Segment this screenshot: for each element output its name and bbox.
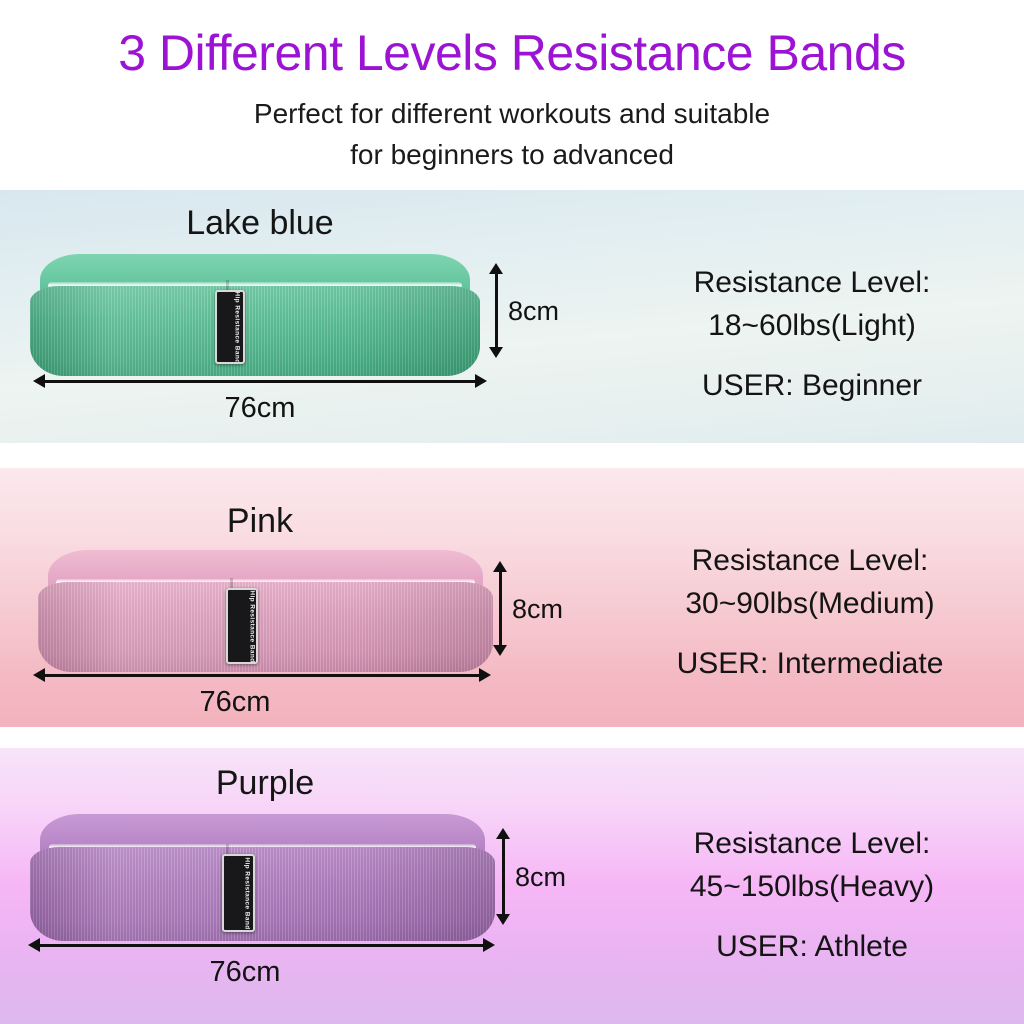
resistance-value: 18~60lbs(Light) [600,305,1024,348]
color-name-label: Purple [0,764,530,803]
band-section-purple: Purple Heavy Hip Resistance Band 8cm 76c [0,748,1024,1024]
infographic-page: 3 Different Levels Resistance Bands Perf… [0,0,1024,1024]
height-dimension-arrow [493,561,507,656]
subtitle-line-2: for beginners to advanced [0,139,1024,171]
width-dimension-label: 76cm [0,392,520,425]
resistance-caption: Resistance Level: [596,540,1024,583]
width-dimension-arrow [28,938,495,952]
resistance-caption: Resistance Level: [600,823,1024,866]
user-label: USER: Athlete [600,926,1024,969]
resistance-caption: Resistance Level: [600,262,1024,305]
spec-block-pink: Resistance Level: 30~90lbs(Medium) USER:… [596,540,1024,686]
width-dimension-arrow [33,374,487,388]
band-section-lake-blue: Lake blue Light Hip Resistance Band 8cm [0,190,1024,443]
height-dimension-label: 8cm [508,296,559,327]
spec-block-purple: Resistance Level: 45~150lbs(Heavy) USER:… [600,823,1024,969]
color-name-label: Pink [0,502,520,541]
tag-brand-text: Hip Resistance Band [244,857,251,929]
width-dimension-label: 76cm [0,956,490,989]
band-tag-label: Medium Hip Resistance Band [226,588,258,664]
height-dimension-arrow [496,828,510,925]
width-dimension-arrow [33,668,491,682]
height-dimension-label: 8cm [512,594,563,625]
user-label: USER: Beginner [600,365,1024,408]
tag-brand-text: Hip Resistance Band [249,590,256,662]
band-image-lake-blue: Light Hip Resistance Band [30,254,480,376]
tag-brand-text: Hip Resistance Band [233,291,240,363]
resistance-value: 45~150lbs(Heavy) [600,866,1024,909]
header: 3 Different Levels Resistance Bands Perf… [0,0,1024,190]
width-dimension-label: 76cm [0,686,470,719]
user-label: USER: Intermediate [596,643,1024,686]
band-section-pink: Pink Medium Hip Resistance Band 8cm 76cm [0,468,1024,727]
subtitle-line-1: Perfect for different workouts and suita… [0,98,1024,130]
color-name-label: Lake blue [0,204,520,243]
band-tag-label: Light Hip Resistance Band [215,290,245,364]
band-image-pink: Medium Hip Resistance Band [38,550,493,672]
page-title: 3 Different Levels Resistance Bands [0,24,1024,82]
band-image-purple: Heavy Hip Resistance Band [30,814,495,941]
resistance-value: 30~90lbs(Medium) [596,583,1024,626]
height-dimension-arrow [489,263,503,358]
height-dimension-label: 8cm [515,862,566,893]
band-tag-label: Heavy Hip Resistance Band [222,854,255,932]
spec-block-lake-blue: Resistance Level: 18~60lbs(Light) USER: … [600,262,1024,408]
